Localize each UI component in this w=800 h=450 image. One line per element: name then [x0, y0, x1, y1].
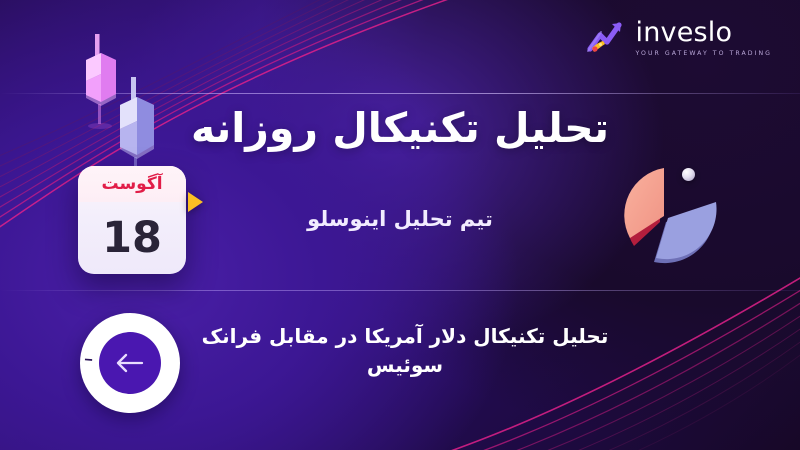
logo-wordmark: inveslo YOUR GATEWAY TO TRADING [636, 19, 772, 57]
calendar-header: آگوست [78, 166, 186, 202]
calendar-day: 18 [78, 202, 186, 274]
calendar-month: آگوست [101, 174, 162, 194]
arrow-left-icon[interactable] [80, 313, 180, 413]
watch-now-badge[interactable]: الان ببین • الان ببین • [80, 313, 180, 413]
brand-tagline: YOUR GATEWAY TO TRADING [636, 51, 772, 57]
page-title: تحلیل تکنیکال روزانه [0, 104, 800, 152]
banner-canvas: inveslo YOUR GATEWAY TO TRADING تحلیل تک… [0, 0, 800, 450]
page-footline: تحلیل تکنیکال دلار آمریکا در مقابل فرانک… [190, 322, 620, 380]
play-triangle-icon[interactable] [188, 192, 203, 212]
calendar-card: آگوست 18 [78, 166, 186, 274]
logo-mark-icon [585, 18, 627, 58]
brand-name: inveslo [636, 19, 733, 46]
sphere-decoration [682, 168, 695, 181]
divider-line-lower [0, 290, 800, 291]
brand-logo[interactable]: inveslo YOUR GATEWAY TO TRADING [585, 18, 772, 58]
